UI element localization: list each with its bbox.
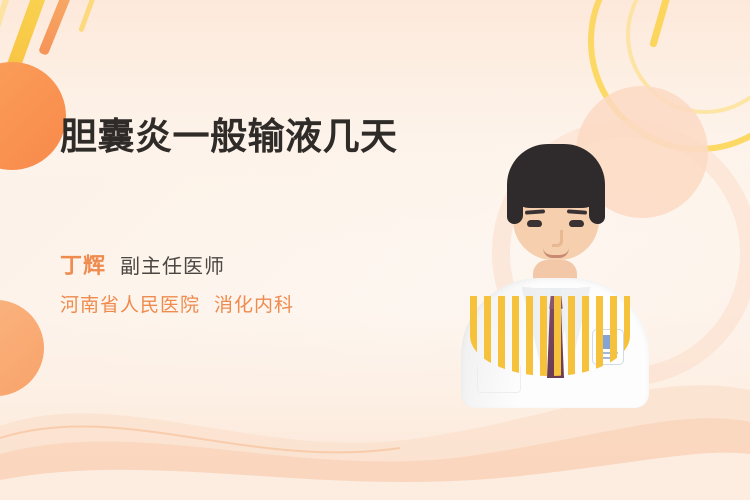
- doctor-hair-side-right: [589, 178, 605, 224]
- doctor-byline: 丁辉 副主任医师: [60, 248, 225, 280]
- doctor-affiliation: 河南省人民医院 消化内科: [60, 290, 294, 317]
- doctor-professional-title: 副主任医师: [120, 250, 225, 279]
- doctor-eye-right: [569, 220, 584, 227]
- doctor-hair-side-left: [507, 178, 523, 224]
- health-info-card: 胆囊炎一般输液几天 丁辉 副主任医师 河南省人民医院 消化内科: [0, 0, 750, 500]
- decor-striped-half-disc: [470, 296, 630, 376]
- doctor-nose: [552, 230, 563, 247]
- doctor-name: 丁辉: [60, 248, 106, 280]
- doctor-hospital: 河南省人民医院: [60, 290, 200, 317]
- doctor-department: 消化内科: [214, 290, 294, 317]
- page-title: 胆囊炎一般输液几天: [60, 112, 420, 161]
- doctor-eye-left: [527, 220, 542, 227]
